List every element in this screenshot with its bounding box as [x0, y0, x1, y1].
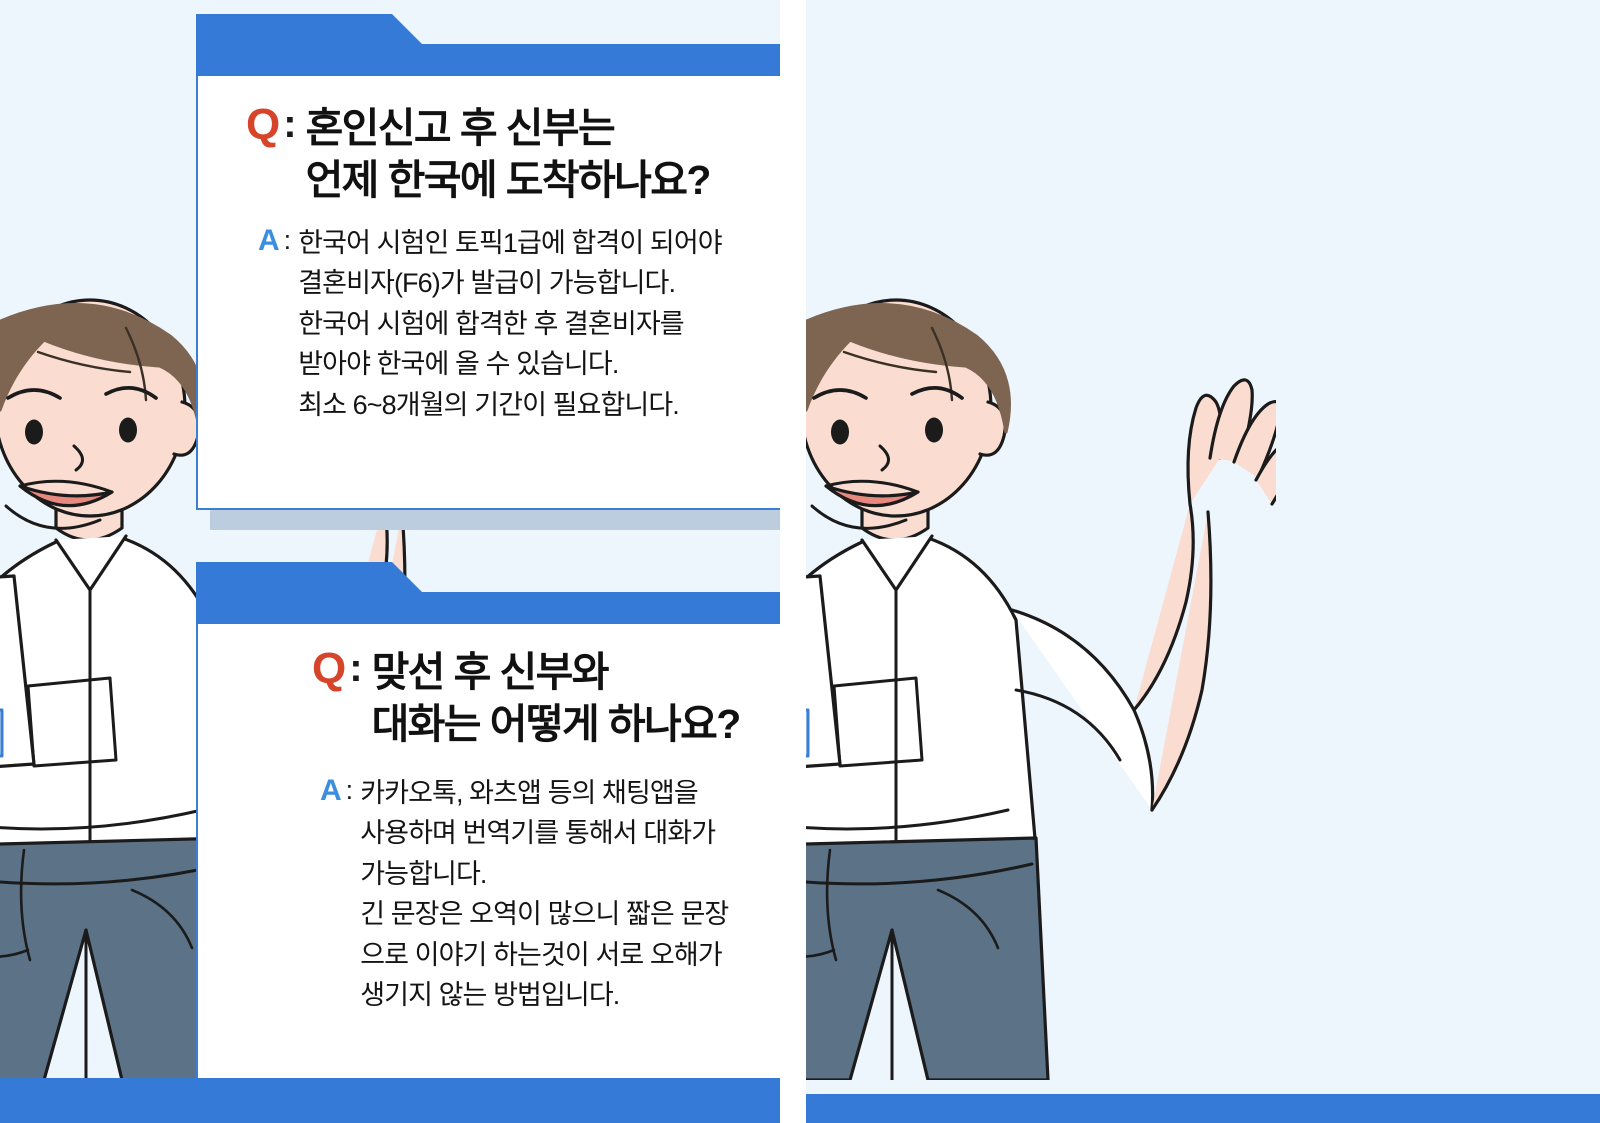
a-marker: A — [320, 773, 342, 808]
a-marker: A — [258, 223, 280, 258]
card-body: Q : 맞선 후 신부와 대화는 어떻게 하나요? A : 카카오톡, 와츠앱 … — [196, 624, 780, 1096]
answer-line: A : 카카오톡, 와츠앱 등의 채팅앱을 사용하며 번역기를 통해서 대화가 … — [320, 773, 778, 1016]
bottom-blue-strip — [806, 1094, 1600, 1123]
illustration-man-right — [806, 290, 1276, 1080]
poster-stage: Q : 혼인신고 후 신부는 언제 한국에 도착하나요? A : 한국어 시험인… — [0, 0, 1600, 1123]
question-text: 혼인신고 후 신부는 언제 한국에 도착하나요? — [306, 102, 778, 207]
card-shadow — [210, 510, 780, 530]
bottom-blue-strip — [0, 1078, 780, 1123]
card-tab — [196, 14, 780, 80]
card-body: Q : 혼인신고 후 신부는 언제 한국에 도착하나요? A : 한국어 시험인… — [196, 76, 780, 510]
q-colon: : — [349, 646, 362, 690]
answer-line: A : 한국어 시험인 토픽1급에 합격이 되어야 결혼비자(F6)가 발급이 … — [258, 223, 778, 426]
q-marker: Q — [246, 102, 279, 148]
card-tab — [196, 562, 780, 628]
question-line: Q : 맞선 후 신부와 대화는 어떻게 하나요? — [312, 646, 778, 751]
panel-right: Q : 중앙아시아 이슬람문화 에 대해서.. A : 절실한 이슬람 종교 신… — [806, 0, 1600, 1123]
answer-text: 카카오톡, 와츠앱 등의 채팅앱을 사용하며 번역기를 통해서 대화가 가능합니… — [360, 773, 778, 1016]
q-colon: : — [283, 102, 296, 146]
a-colon: : — [284, 223, 292, 258]
a-colon: : — [346, 773, 354, 808]
panel-divider — [780, 0, 806, 1123]
q-marker: Q — [312, 646, 345, 692]
question-line: Q : 혼인신고 후 신부는 언제 한국에 도착하나요? — [246, 102, 778, 207]
question-text: 맞선 후 신부와 대화는 어떻게 하나요? — [372, 646, 778, 751]
panel-left: Q : 혼인신고 후 신부는 언제 한국에 도착하나요? A : 한국어 시험인… — [0, 0, 780, 1123]
answer-text: 한국어 시험인 토픽1급에 합격이 되어야 결혼비자(F6)가 발급이 가능합니… — [298, 223, 778, 426]
